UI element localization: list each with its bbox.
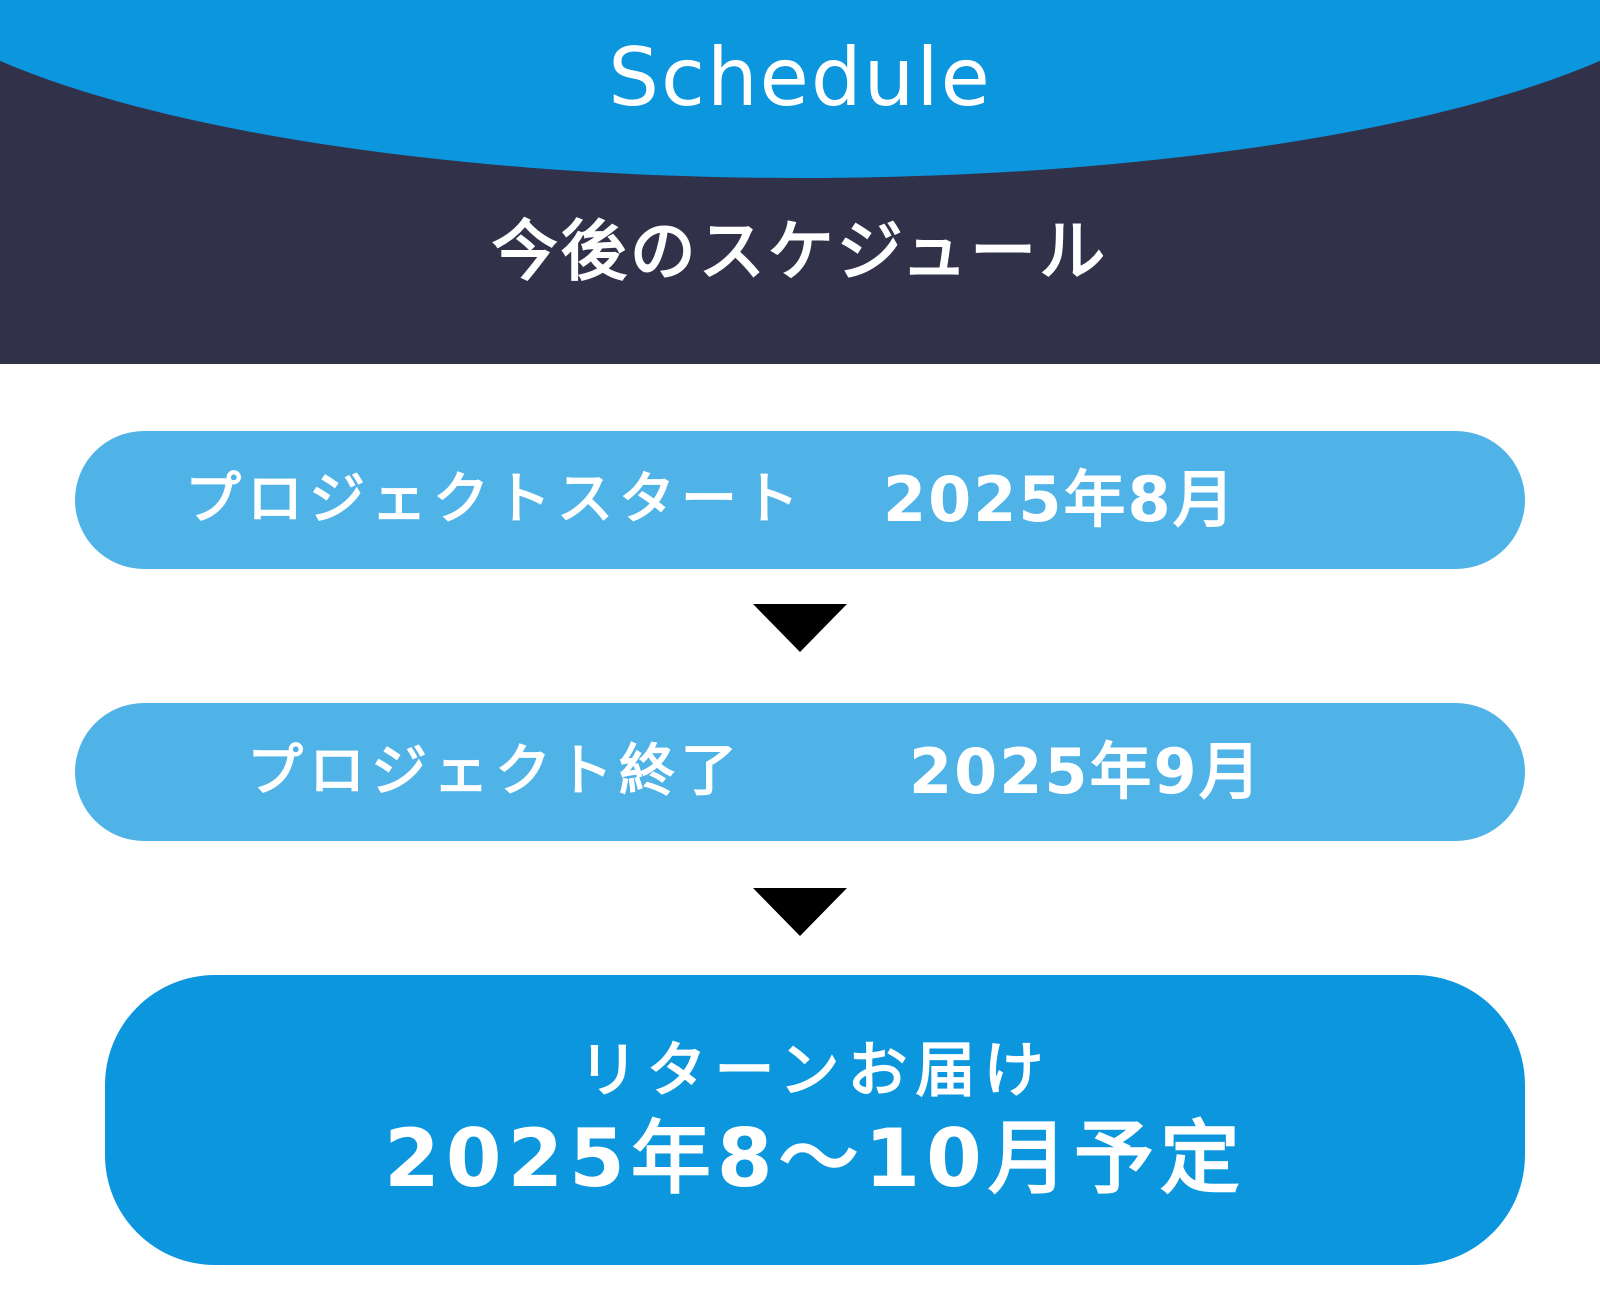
header-band: Schedule 今後のスケジュール (0, 0, 1600, 364)
arrow-down-icon (753, 604, 847, 652)
timeline-step-1-date: 2025年8月 (883, 469, 1237, 531)
page-title: Schedule (0, 30, 1600, 126)
timeline-final-label: リターンお届け (579, 1040, 1052, 1103)
schedule-section: Schedule 今後のスケジュール プロジェクトスタート 2025年8月 プロ… (0, 0, 1600, 1312)
timeline-step-2: プロジェクト終了 2025年9月 (75, 703, 1525, 841)
arrow-down-icon (753, 888, 847, 936)
timeline-step-2-label: プロジェクト終了 (247, 744, 743, 800)
page-subtitle: 今後のスケジュール (0, 204, 1600, 300)
timeline-final-date: 2025年8～10月予定 (384, 1117, 1246, 1201)
timeline-final-step: リターンお届け 2025年8～10月予定 (105, 975, 1525, 1265)
timeline-step-1-label: プロジェクトスタート (185, 472, 805, 528)
timeline-step-2-date: 2025年9月 (909, 741, 1263, 803)
timeline-step-1: プロジェクトスタート 2025年8月 (75, 431, 1525, 569)
